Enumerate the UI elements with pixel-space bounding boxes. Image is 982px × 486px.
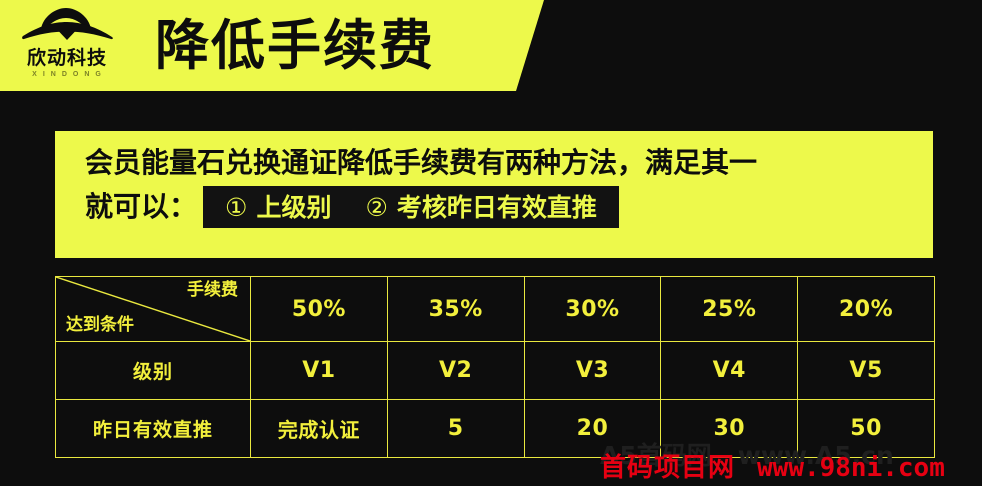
- method-item-1: ① 上级别: [225, 195, 331, 220]
- table-cell: 30%: [524, 277, 661, 342]
- mountain-arch-logo-icon: [19, 6, 115, 48]
- site-watermark-name: 首码项目网: [600, 455, 735, 481]
- table-cell: 完成认证: [251, 400, 388, 458]
- table-cell: 5: [387, 400, 524, 458]
- row-header-referrals: 昨日有效直推: [56, 400, 251, 458]
- method-2-label: 考核昨日有效直推: [397, 195, 597, 220]
- method-1-label: 上级别: [256, 195, 331, 220]
- methods-bar: ① 上级别 ② 考核昨日有效直推: [203, 186, 619, 228]
- callout-panel: 会员能量石兑换通证降低手续费有两种方法，满足其一 就可以： ① 上级别 ② 考核…: [55, 131, 933, 258]
- logo-cn-name: 欣动科技: [27, 49, 107, 68]
- table-cell: 50: [798, 400, 935, 458]
- promo-page: 欣动科技 XINDONG 降低手续费 会员能量石兑换通证降低手续费有两种方法，满…: [0, 0, 982, 486]
- table-cell: V4: [661, 342, 798, 400]
- table-cell: 20%: [798, 277, 935, 342]
- circled-two-icon: ②: [365, 195, 387, 220]
- table-cell: 20: [524, 400, 661, 458]
- site-watermark: 首码项目网 www.98ni.com: [600, 455, 945, 481]
- table-cell: 50%: [251, 277, 388, 342]
- header-banner: 欣动科技 XINDONG 降低手续费: [0, 0, 544, 91]
- site-watermark-url: www.98ni.com: [757, 455, 945, 481]
- callout-line-1: 会员能量石兑换通证降低手续费有两种方法，满足其一: [85, 147, 933, 179]
- fee-rate-table: 手续费 达到条件 50% 35% 30% 25% 20% 级别 V1 V2 V3…: [55, 276, 935, 458]
- corner-top-label: 手续费: [187, 282, 238, 299]
- callout-line-2: 就可以： ① 上级别 ② 考核昨日有效直推: [85, 186, 933, 228]
- callout-prefix: 就可以：: [85, 191, 197, 223]
- table-row: 昨日有效直推 完成认证 5 20 30 50: [56, 400, 935, 458]
- table-corner-header: 手续费 达到条件: [56, 277, 251, 342]
- company-logo: 欣动科技 XINDONG: [8, 4, 126, 88]
- page-title: 降低手续费: [155, 19, 435, 73]
- table-cell: 25%: [661, 277, 798, 342]
- logo-en-name: XINDONG: [32, 71, 107, 78]
- table-cell: 35%: [387, 277, 524, 342]
- corner-bottom-label: 达到条件: [66, 317, 134, 334]
- table-cell: V1: [251, 342, 388, 400]
- circled-one-icon: ①: [225, 195, 247, 220]
- row-header-level: 级别: [56, 342, 251, 400]
- table-row: 级别 V1 V2 V3 V4 V5: [56, 342, 935, 400]
- method-item-2: ② 考核昨日有效直推: [365, 195, 596, 220]
- table-row: 手续费 达到条件 50% 35% 30% 25% 20%: [56, 277, 935, 342]
- table-cell: V2: [387, 342, 524, 400]
- table-cell: V3: [524, 342, 661, 400]
- table-cell: V5: [798, 342, 935, 400]
- table-cell: 30: [661, 400, 798, 458]
